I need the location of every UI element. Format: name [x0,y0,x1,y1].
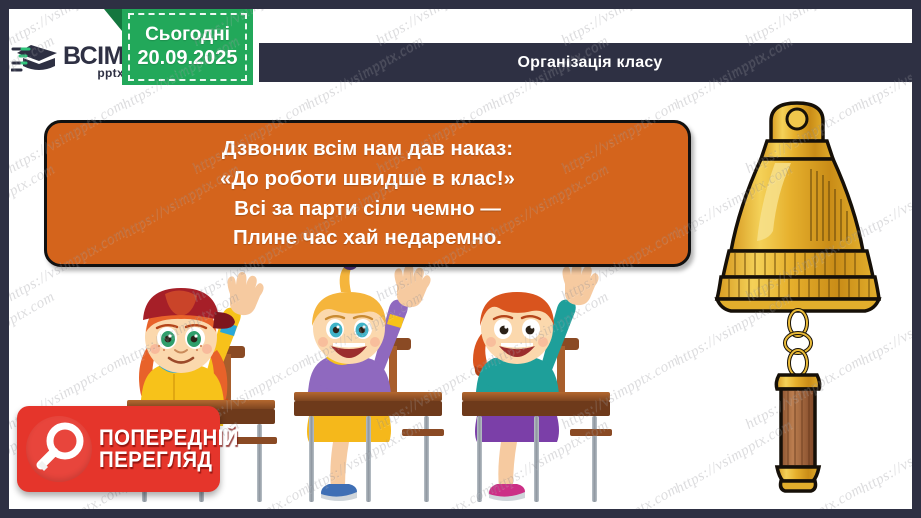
graduation-cap-icon [11,39,61,83]
pupil-2-group [294,260,444,502]
desk-3 [462,392,612,502]
date-label: Сьогодні [145,23,230,47]
header-title-bar: Організація класу [259,43,912,82]
slide-frame: Дзвоник всім нам дав наказ: «До роботи ш… [0,0,921,518]
brand-name: ВСІМ [63,44,124,69]
poem-line-3: Всі за парти сіли чемно — [234,194,501,224]
poem-line-2: «До роботи швидше в клас!» [220,164,515,194]
poem-line-1: Дзвоник всім нам дав наказ: [222,134,513,164]
school-bell-illustration [705,87,890,497]
preview-line-1: ПОПЕРЕДНІЙ [99,427,239,449]
page-title: Організація класу [517,54,662,72]
magnifier-icon [26,416,92,482]
poem-textbox: Дзвоник всім нам дав наказ: «До роботи ш… [44,120,691,267]
pupil-3-group [462,262,612,502]
desk-2 [294,392,444,502]
brand-logo[interactable]: ВСІМ pptx [11,36,117,86]
date-badge: Сьогодні 20.09.2025 [122,9,253,85]
preview-badge[interactable]: ПОПЕРЕДНІЙ ПЕРЕГЛЯД [17,406,220,492]
preview-line-2: ПЕРЕГЛЯД [99,449,239,471]
date-value: 20.09.2025 [137,46,237,71]
slide-page: Дзвоник всім нам дав наказ: «До роботи ш… [9,9,912,509]
poem-line-4: Плине час хай недаремно. [233,223,502,253]
